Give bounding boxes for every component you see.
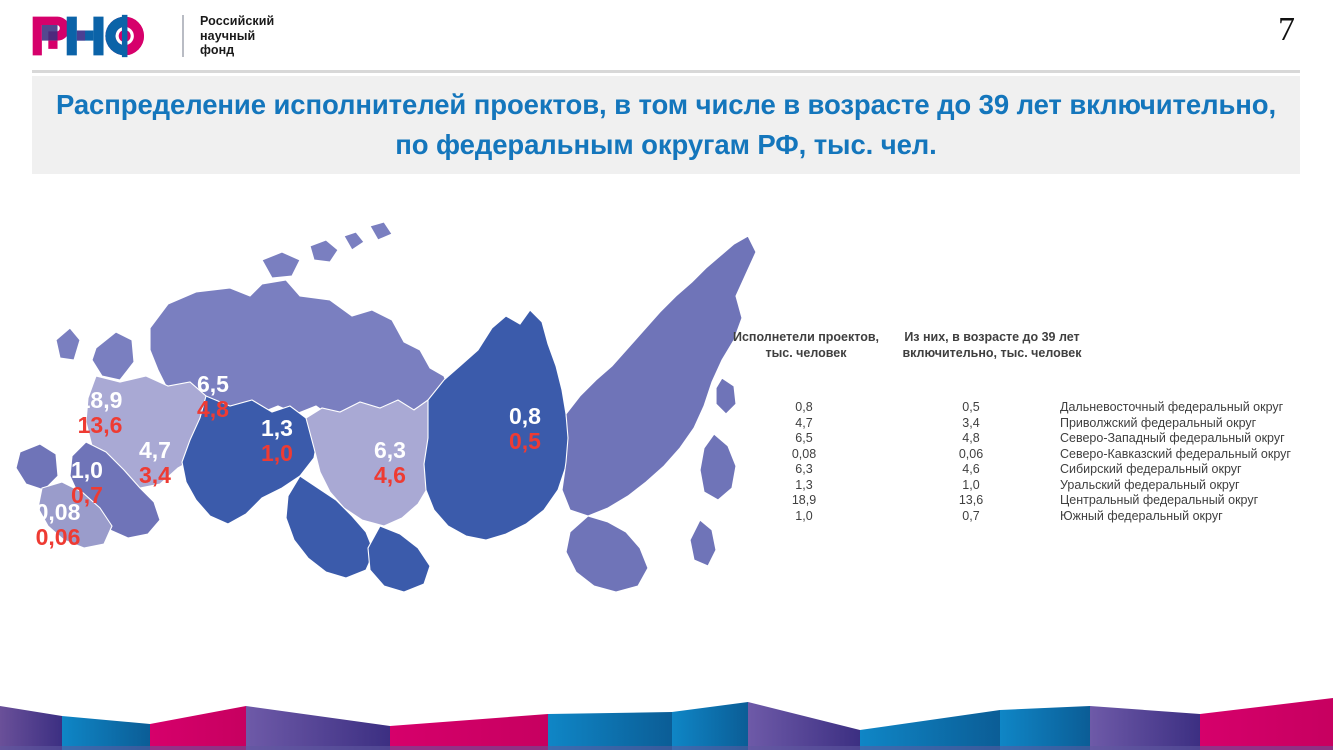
map-label-northcaucasian: 0,08 0,06	[13, 500, 103, 550]
cell-young: 1,0	[886, 478, 1056, 494]
table-row: 6,3 4,6 Сибирский федеральный округ	[722, 462, 1322, 478]
cell-district: Дальневосточный федеральный округ	[1056, 400, 1283, 416]
logo-divider	[182, 15, 184, 57]
cell-young: 13,6	[886, 493, 1056, 509]
cell-young: 4,6	[886, 462, 1056, 478]
cell-total: 0,8	[722, 400, 886, 416]
table-row: 18,9 13,6 Центральный федеральный округ	[722, 493, 1322, 509]
map-label-northwest: 6,5 4,8	[168, 372, 258, 422]
cell-total: 1,3	[722, 478, 886, 494]
cell-young: 3,4	[886, 416, 1056, 432]
cell-district: Сибирский федеральный округ	[1056, 462, 1242, 478]
cell-district: Северо-Кавказский федеральный округ	[1056, 447, 1291, 463]
cell-young: 0,06	[886, 447, 1056, 463]
cell-total: 1,0	[722, 509, 886, 525]
cell-total: 6,3	[722, 462, 886, 478]
page-title: Распределение исполнителей проектов, в т…	[44, 85, 1289, 165]
cell-young: 0,7	[886, 509, 1056, 525]
footer-zigzag-svg	[0, 688, 1333, 750]
column-header-young: Из них, в возрасте до 39 лет включительн…	[882, 330, 1102, 361]
russia-choropleth-map: 18,9 13,6 6,5 4,8 4,7 3,4 1,3 1,0 6,3 4,…	[0, 200, 760, 620]
cell-young: 0,5	[886, 400, 1056, 416]
brand-logo: Российский научный фонд	[28, 10, 274, 62]
org-name: Российский научный фонд	[200, 14, 274, 58]
org-name-line1: Российский	[200, 14, 274, 29]
rnf-logo-icon	[28, 13, 168, 59]
column-header-total: Исполнетели проектов, тыс. человек	[726, 330, 886, 361]
header-bar: Российский научный фонд 7	[0, 0, 1333, 72]
title-banner: Распределение исполнителей проектов, в т…	[32, 76, 1300, 174]
map-label-siberian: 6,3 4,6	[345, 438, 435, 488]
cell-district: Центральный федеральный округ	[1056, 493, 1258, 509]
map-label-ural: 1,3 1,0	[232, 416, 322, 466]
table-row: 0,08 0,06 Северо-Кавказский федеральный …	[722, 447, 1322, 463]
cell-total: 18,9	[722, 493, 886, 509]
federal-districts-table: Исполнетели проектов, тыс. человек Из ни…	[722, 330, 1322, 524]
table-row: 4,7 3,4 Приволжский федеральный округ	[722, 416, 1322, 432]
page-number: 7	[1278, 8, 1295, 52]
cell-district: Уральский федеральный округ	[1056, 478, 1240, 494]
cell-young: 4,8	[886, 431, 1056, 447]
table-header-row: Исполнетели проектов, тыс. человек Из ни…	[722, 330, 1322, 392]
map-label-fareast: 0,8 0,5	[480, 404, 570, 454]
org-name-line2: научный	[200, 29, 274, 44]
org-name-line3: фонд	[200, 43, 274, 58]
table-body: 0,8 0,5 Дальневосточный федеральный окру…	[722, 400, 1322, 524]
table-row: 1,0 0,7 Южный федеральный округ	[722, 509, 1322, 525]
table-row: 1,3 1,0 Уральский федеральный округ	[722, 478, 1322, 494]
cell-total: 6,5	[722, 431, 886, 447]
table-row: 0,8 0,5 Дальневосточный федеральный окру…	[722, 400, 1322, 416]
footer-decoration	[0, 688, 1333, 750]
cell-district: Северо-Западный федеральный округ	[1056, 431, 1285, 447]
cell-total: 0,08	[722, 447, 886, 463]
cell-district: Южный федеральный округ	[1056, 509, 1223, 525]
cell-district: Приволжский федеральный округ	[1056, 416, 1256, 432]
map-label-central: 18,9 13,6	[55, 388, 145, 438]
cell-total: 4,7	[722, 416, 886, 432]
table-row: 6,5 4,8 Северо-Западный федеральный окру…	[722, 431, 1322, 447]
header-divider	[32, 70, 1300, 73]
